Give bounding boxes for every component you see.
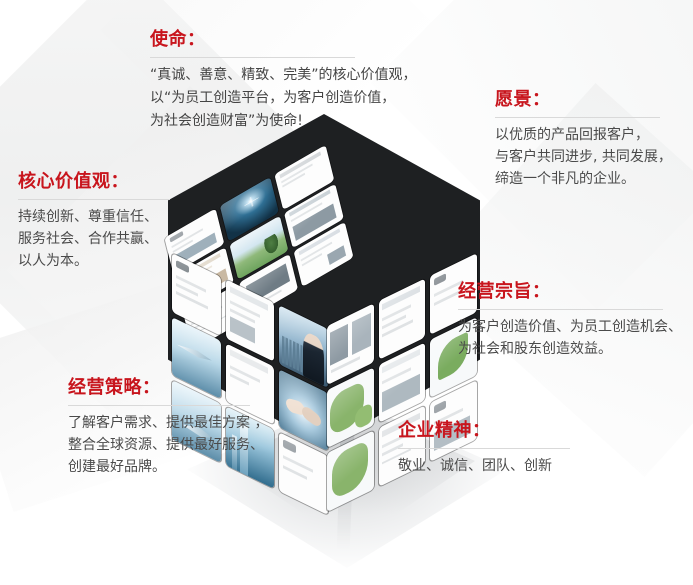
spirit-body: 敬业、诚信、团队、创新 <box>398 455 618 477</box>
vision-body: 以优质的产品回报客户， 与客户共同进步, 共同发展， 缔造一个非凡的企业。 <box>495 124 693 190</box>
text-block-strategy: 经营策略： 了解客户需求、提供最佳方案 ， 整合全球资源、提供最好服务、 创建最… <box>68 378 283 478</box>
mission-line: 为社会创造财富”为使命! <box>150 110 450 133</box>
strategy-line: 整合全球资源、提供最好服务、 <box>68 434 283 456</box>
core-values-line: 以人为本。 <box>18 250 218 272</box>
core-values-divider <box>18 199 170 200</box>
mission-divider <box>150 57 355 58</box>
mission-line: 以“为员工创造平台，为客户创造价值， <box>150 87 450 110</box>
text-block-core-values: 核心价值观： 持续创新、尊重信任、 服务社会、合作共赢、 以人为本。 <box>18 172 218 272</box>
vision-line: 缔造一个非凡的企业。 <box>495 168 693 190</box>
text-block-purpose: 经营宗旨： 为客户创造价值、为员工创造机会、 为社会和股东创造效益。 <box>458 282 688 360</box>
vision-line: 与客户共同进步, 共同发展， <box>495 146 693 168</box>
core-values-title: 核心价值观： <box>18 172 218 192</box>
strategy-divider <box>68 405 250 406</box>
purpose-body: 为客户创造价值、为员工创造机会、 为社会和股东创造效益。 <box>458 316 688 360</box>
spirit-title: 企业精神： <box>398 421 618 441</box>
text-block-spirit: 企业精神： 敬业、诚信、团队、创新 <box>398 421 618 477</box>
vision-line: 以优质的产品回报客户， <box>495 124 693 146</box>
strategy-title: 经营策略： <box>68 378 283 398</box>
mission-title: 使命： <box>150 30 450 50</box>
vision-divider <box>495 117 660 118</box>
text-block-vision: 愿景： 以优质的产品回报客户， 与客户共同进步, 共同发展， 缔造一个非凡的企业… <box>495 90 693 190</box>
strategy-body: 了解客户需求、提供最佳方案 ， 整合全球资源、提供最好服务、 创建最好品牌。 <box>68 412 283 478</box>
purpose-divider <box>458 309 663 310</box>
core-values-line: 持续创新、尊重信任、 <box>18 206 218 228</box>
strategy-line: 了解客户需求、提供最佳方案 ， <box>68 412 283 434</box>
spirit-line: 敬业、诚信、团队、创新 <box>398 455 618 477</box>
spirit-divider <box>398 448 570 449</box>
strategy-line: 创建最好品牌。 <box>68 456 283 478</box>
core-values-body: 持续创新、尊重信任、 服务社会、合作共赢、 以人为本。 <box>18 206 218 272</box>
core-values-line: 服务社会、合作共赢、 <box>18 228 218 250</box>
vision-title: 愿景： <box>495 90 693 110</box>
mission-line: “真诚、善意、精致、完美”的核心价值观， <box>150 64 450 87</box>
infographic-canvas: 使命： “真诚、善意、精致、完美”的核心价值观， 以“为员工创造平台，为客户创造… <box>0 0 693 585</box>
purpose-line: 为社会和股东创造效益。 <box>458 338 688 360</box>
mission-body: “真诚、善意、精致、完美”的核心价值观， 以“为员工创造平台，为客户创造价值， … <box>150 64 450 133</box>
purpose-line: 为客户创造价值、为员工创造机会、 <box>458 316 688 338</box>
text-block-mission: 使命： “真诚、善意、精致、完美”的核心价值观， 以“为员工创造平台，为客户创造… <box>150 30 450 133</box>
purpose-title: 经营宗旨： <box>458 282 688 302</box>
